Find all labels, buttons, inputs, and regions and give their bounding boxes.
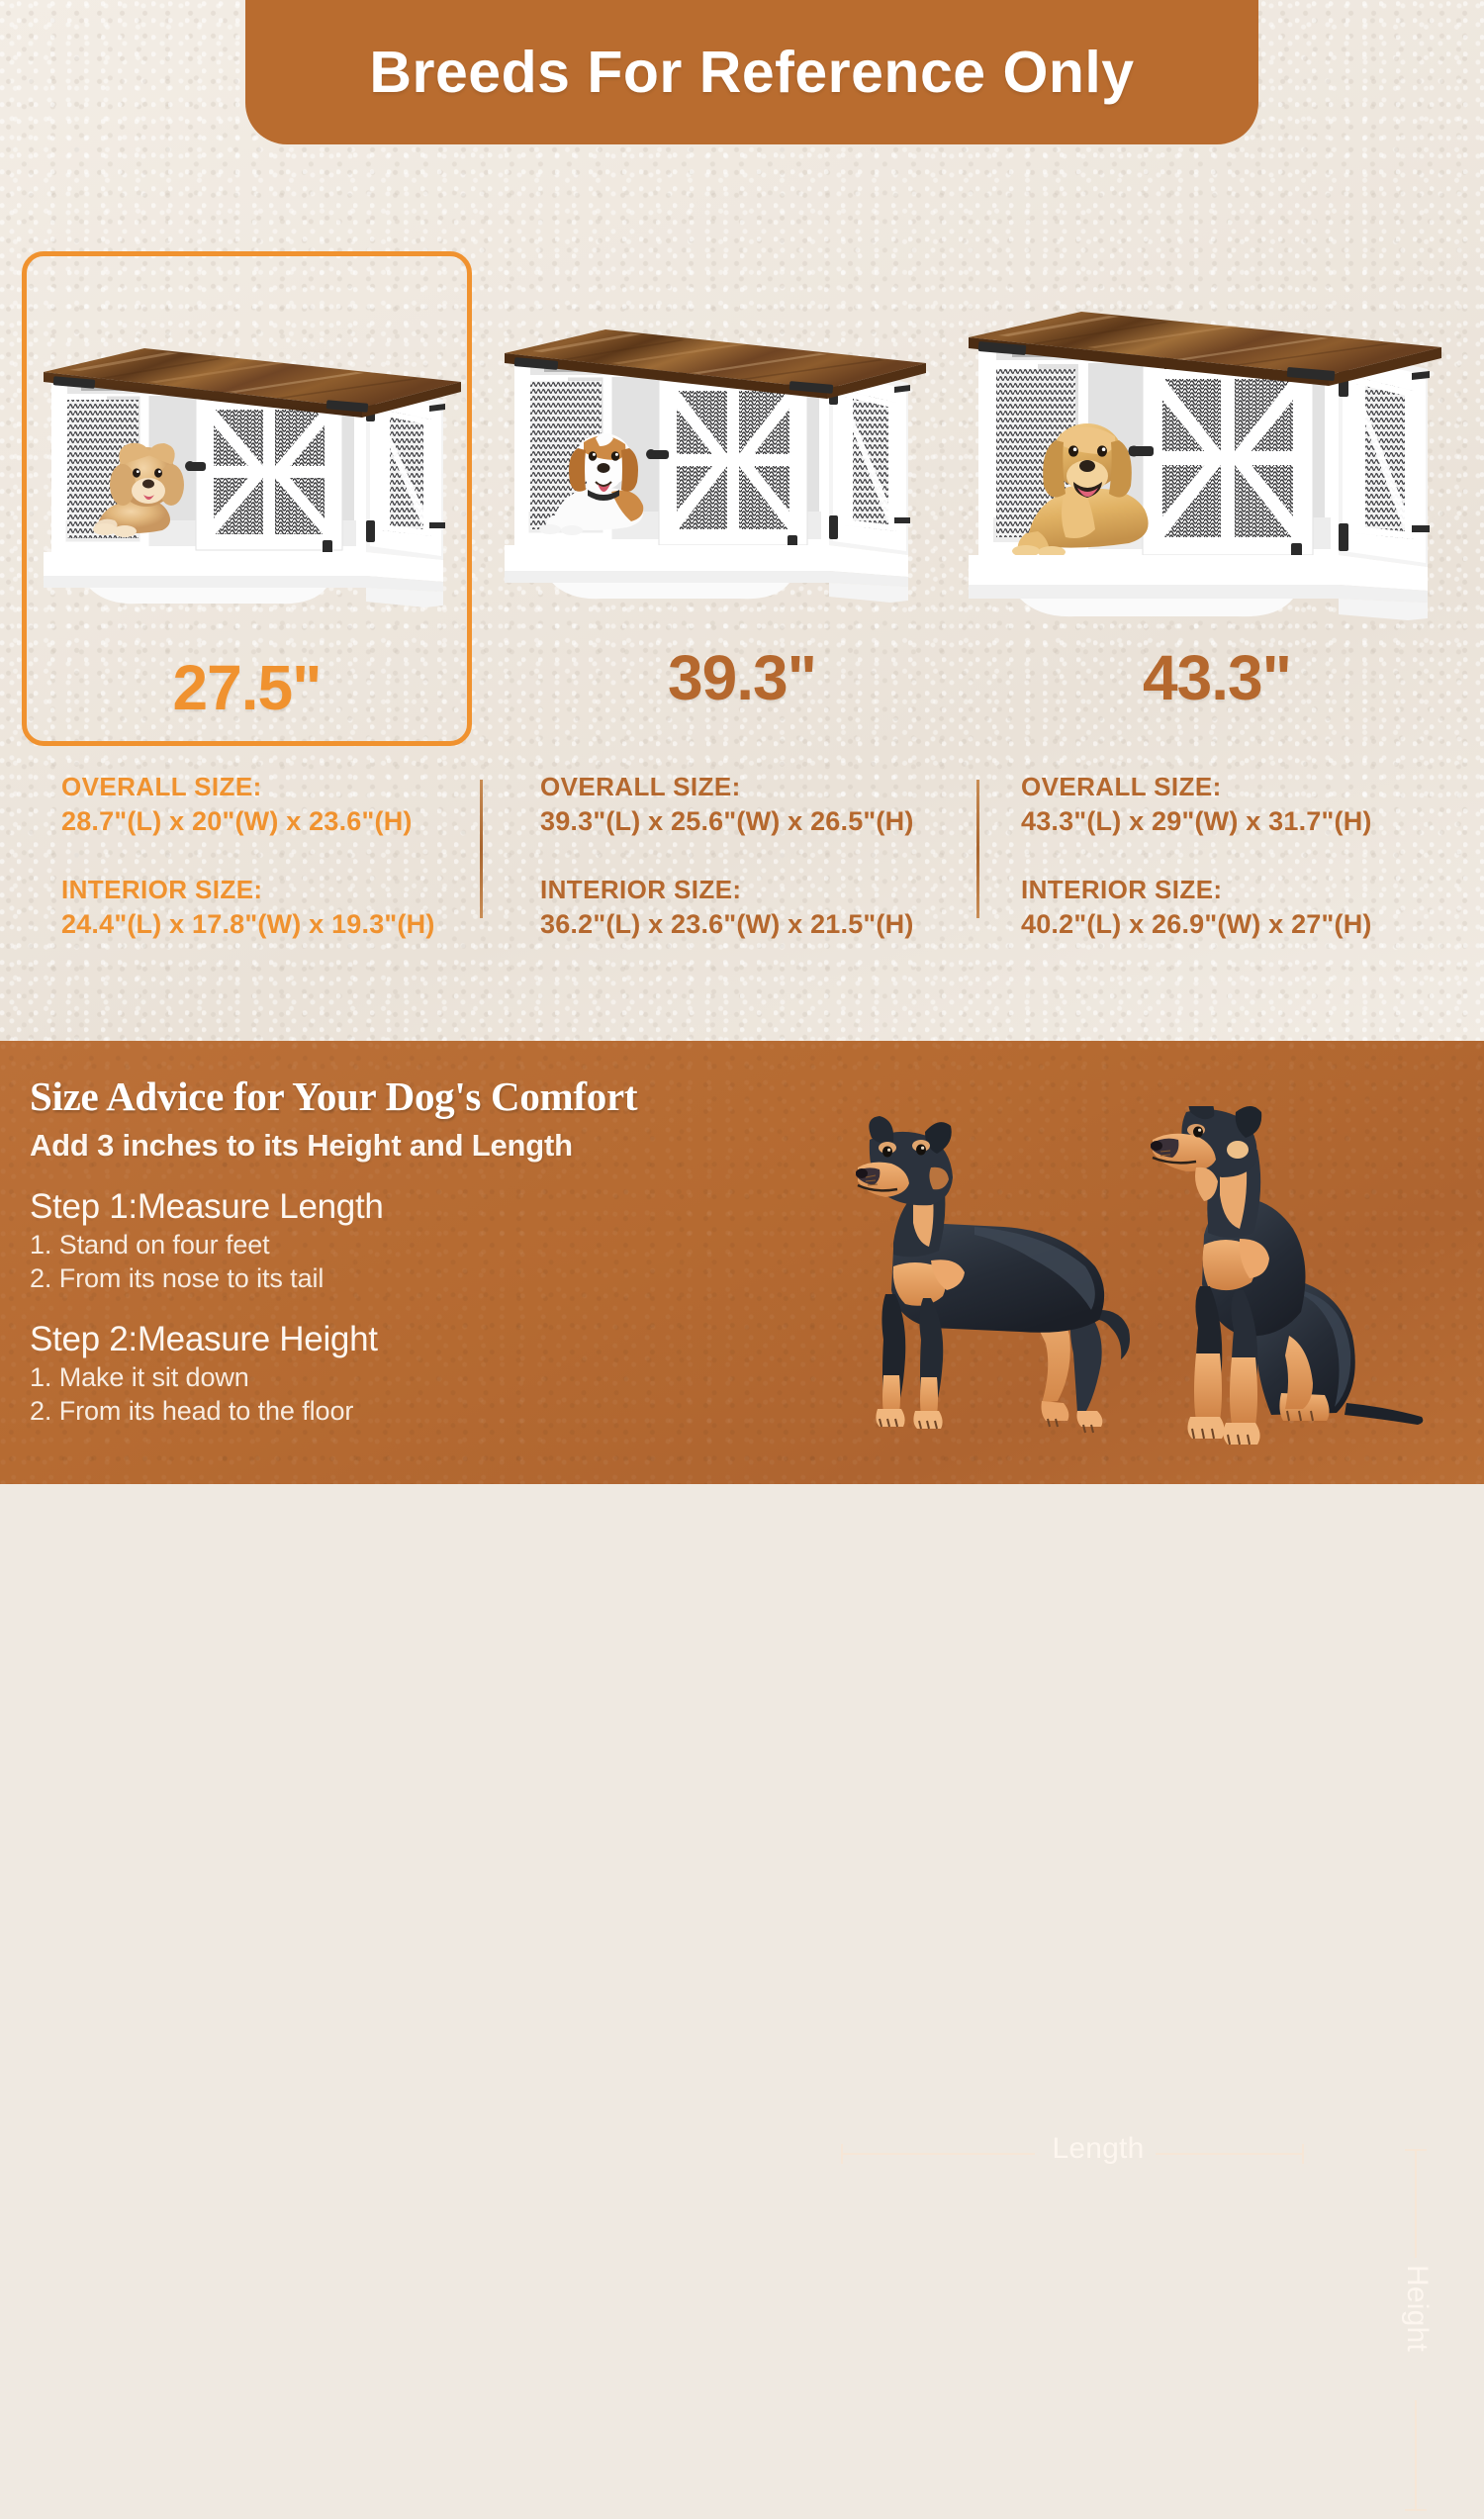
- overall-size-heading-3: OVERALL SIZE:: [1021, 772, 1372, 802]
- interior-size-value-1: 24.4"(L) x 17.8"(W) x 19.3"(H): [61, 909, 435, 940]
- length-line-left: [841, 2153, 1035, 2155]
- crate-image-2: [493, 312, 928, 638]
- infographic-page: Breeds For Reference Only: [0, 0, 1484, 1484]
- overall-size-value-1: 28.7"(L) x 20"(W) x 23.6"(H): [61, 806, 435, 837]
- overall-size-value-3: 43.3"(L) x 29"(W) x 31.7"(H): [1021, 806, 1372, 837]
- step-1-line-1: 1. Stand on four feet: [30, 1230, 384, 1260]
- size-label-1: 27.5": [22, 651, 472, 724]
- overall-size-heading-2: OVERALL SIZE:: [540, 772, 914, 802]
- advice-title: Size Advice for Your Dog's Comfort: [30, 1073, 637, 1120]
- column-divider-1: [480, 780, 483, 918]
- size-label-2: 39.3": [524, 641, 960, 714]
- product-card-3[interactable]: [955, 292, 1449, 658]
- height-line-bottom: [1415, 2400, 1417, 2511]
- crate-image-1: [30, 327, 465, 653]
- step-1-heading: Step 1:Measure Length: [30, 1187, 384, 1227]
- product-card-2[interactable]: [493, 312, 928, 638]
- specifications-row: OVERALL SIZE: 28.7"(L) x 20"(W) x 23.6"(…: [0, 772, 1484, 950]
- header-banner: Breeds For Reference Only: [245, 0, 1258, 144]
- standing-dog-illustration: [836, 1116, 1162, 1482]
- length-measure-guide: Length: [841, 2142, 1484, 2166]
- interior-size-heading-3: INTERIOR SIZE:: [1021, 875, 1372, 905]
- interior-size-heading-2: INTERIOR SIZE:: [540, 875, 914, 905]
- sitting-dog-illustration: [1143, 1106, 1439, 1482]
- height-cap-bottom: [1405, 2509, 1427, 2511]
- length-line-right: [1156, 2153, 1304, 2155]
- overall-size-heading-1: OVERALL SIZE:: [61, 772, 435, 802]
- crate-image-3: [955, 292, 1449, 658]
- column-divider-2: [976, 780, 979, 918]
- interior-size-heading-1: INTERIOR SIZE:: [61, 875, 435, 905]
- overall-size-value-2: 39.3"(L) x 25.6"(W) x 26.5"(H): [540, 806, 914, 837]
- height-measure-guide: Height: [1403, 2141, 1429, 2519]
- step-2-line-2: 2. From its head to the floor: [30, 1396, 378, 1427]
- advice-subtitle: Add 3 inches to its Height and Length: [30, 1128, 573, 1164]
- interior-size-value-2: 36.2"(L) x 23.6"(W) x 21.5"(H): [540, 909, 914, 940]
- length-cap-right: [1302, 2144, 1304, 2164]
- spec-column-3: OVERALL SIZE: 43.3"(L) x 29"(W) x 31.7"(…: [1021, 772, 1372, 940]
- advice-step-2: Step 2:Measure Height 1. Make it sit dow…: [30, 1320, 378, 1427]
- page-title: Breeds For Reference Only: [369, 39, 1134, 106]
- step-1-line-2: 2. From its nose to its tail: [30, 1263, 384, 1294]
- size-label-3: 43.3": [989, 641, 1444, 714]
- advice-step-1: Step 1:Measure Length 1. Stand on four f…: [30, 1187, 384, 1294]
- product-card-1[interactable]: [30, 327, 465, 653]
- height-line-top: [1415, 2149, 1417, 2258]
- length-label: Length: [1039, 2132, 1158, 2166]
- spec-column-1: OVERALL SIZE: 28.7"(L) x 20"(W) x 23.6"(…: [61, 772, 435, 940]
- step-2-heading: Step 2:Measure Height: [30, 1320, 378, 1359]
- spec-column-2: OVERALL SIZE: 39.3"(L) x 25.6"(W) x 26.5…: [540, 772, 914, 940]
- interior-size-value-3: 40.2"(L) x 26.9"(W) x 27"(H): [1021, 909, 1372, 940]
- step-2-line-1: 1. Make it sit down: [30, 1362, 378, 1393]
- height-label: Height: [1400, 2261, 1434, 2356]
